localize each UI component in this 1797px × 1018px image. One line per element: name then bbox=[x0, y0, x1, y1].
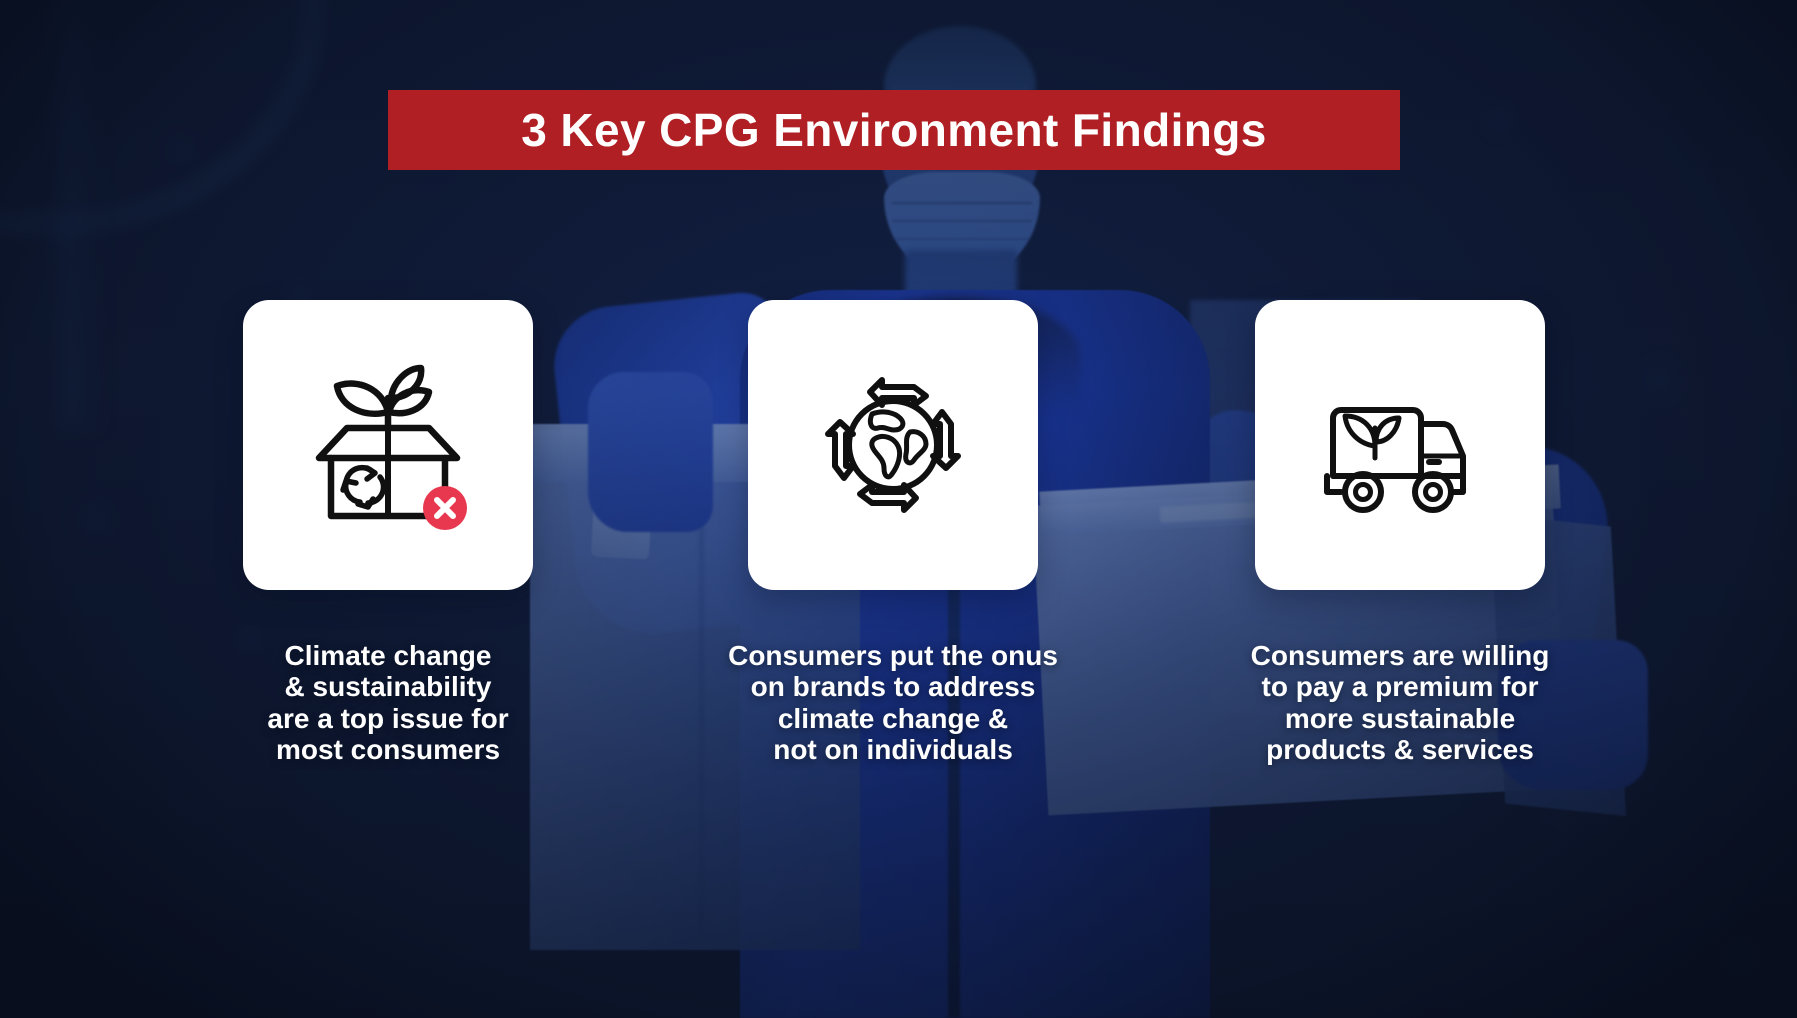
caption-line: products & services bbox=[1213, 734, 1587, 765]
finding-card-3: Consumers are willing to pay a premium f… bbox=[1255, 300, 1545, 765]
caption-line: not on individuals bbox=[696, 734, 1090, 765]
finding-card-1: Climate change & sustainability are a to… bbox=[243, 300, 533, 765]
finding-caption-3: Consumers are willing to pay a premium f… bbox=[1213, 640, 1587, 765]
eco-delivery-truck-icon bbox=[1305, 350, 1495, 540]
caption-line: Consumers are willing bbox=[1213, 640, 1587, 671]
caption-line: Consumers put the onus bbox=[696, 640, 1090, 671]
infographic-canvas: 3 Key CPG Environment Findings bbox=[0, 0, 1797, 1018]
caption-line: Climate change bbox=[223, 640, 553, 671]
icon-card-2[interactable] bbox=[748, 300, 1038, 590]
caption-line: climate change & bbox=[696, 703, 1090, 734]
finding-card-2: Consumers put the onus on brands to addr… bbox=[748, 300, 1038, 765]
findings-row: Climate change & sustainability are a to… bbox=[0, 0, 1797, 1018]
finding-caption-2: Consumers put the onus on brands to addr… bbox=[696, 640, 1090, 765]
finding-caption-1: Climate change & sustainability are a to… bbox=[223, 640, 553, 765]
caption-line: & sustainability bbox=[223, 671, 553, 702]
caption-line: are a top issue for bbox=[223, 703, 553, 734]
caption-line: more sustainable bbox=[1213, 703, 1587, 734]
caption-line: on brands to address bbox=[696, 671, 1090, 702]
caption-line: most consumers bbox=[223, 734, 553, 765]
globe-with-cycle-arrows-icon bbox=[798, 350, 988, 540]
caption-line: to pay a premium for bbox=[1213, 671, 1587, 702]
icon-card-3[interactable] bbox=[1255, 300, 1545, 590]
box-with-plant-recycle-icon bbox=[293, 350, 483, 540]
icon-card-1[interactable] bbox=[243, 300, 533, 590]
